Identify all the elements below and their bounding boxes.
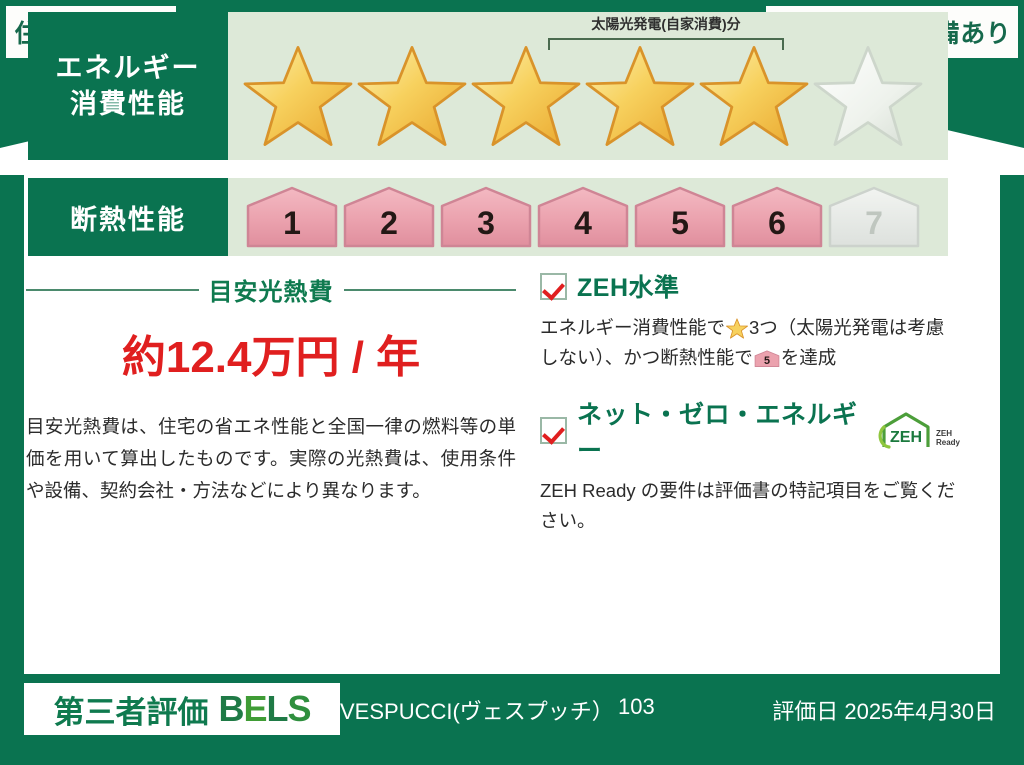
svg-text:5: 5: [764, 355, 770, 367]
insulation-levels-area: 1 2 3 4 5 6: [228, 178, 948, 256]
solar-bracket: [546, 36, 786, 52]
star-icon-filled-2: [356, 43, 468, 149]
property-name: VESPUCCI(ヴェスプッチ）: [340, 694, 614, 726]
star-icon-filled-5: [698, 43, 810, 149]
solar-annotation-label: 太陽光発電(自家消費)分: [546, 14, 786, 34]
evaluation-date: 評価日 2025年4月30日: [772, 694, 996, 726]
star-icon-filled-1: [242, 43, 354, 149]
zeh-standard-label: ZEH水準: [577, 268, 680, 304]
net-zero-label: ネット・ゼロ・エネルギー: [577, 395, 862, 467]
energy-performance-row: エネルギー 消費性能 太陽光発電(自家消費)分: [28, 12, 948, 160]
house-icon-inline-level5: 5: [754, 349, 780, 369]
svg-text:7: 7: [865, 205, 883, 241]
zeh-standard-claim-title: ZEH水準: [540, 268, 960, 304]
house-level-4: 4: [535, 184, 631, 252]
energy-cost-description: 目安光熱費は、住宅の省エネ性能と全国一律の燃料等の単価を用いて算出したものです。…: [26, 411, 516, 506]
energy-cost-heading-text: 目安光熱費: [209, 272, 334, 307]
heading-rule-left: [26, 289, 199, 291]
house-level-7: 7: [826, 184, 922, 252]
bels-jp-label: 第三者評価: [53, 687, 208, 732]
room-number: 103: [618, 694, 655, 720]
zeh-house-icon: ZEH: [878, 411, 934, 451]
insulation-label-text: 断熱性能: [70, 198, 186, 237]
zeh-standard-description: エネルギー消費性能で3つ（太陽光発電は考慮しない）、かつ断熱性能で5を達成: [540, 313, 960, 373]
energy-cost-heading: 目安光熱費: [26, 272, 516, 307]
energy-cost-value: 約12.4万円 / 年: [26, 321, 516, 385]
energy-label-line2: 消費性能: [70, 86, 186, 122]
energy-label-line1: エネルギー: [56, 50, 201, 86]
zeh-desc-part1: エネルギー消費性能で: [540, 317, 725, 338]
net-zero-description: ZEH Ready の要件は評価書の特記項目をご覧ください。: [540, 476, 960, 536]
insulation-level-scale: 1 2 3 4 5 6: [244, 182, 922, 252]
energy-cost-block: 目安光熱費 約12.4万円 / 年 目安光熱費は、住宅の省エネ性能と全国一律の燃…: [26, 272, 516, 506]
checkmark-icon-zeh-standard: [540, 273, 567, 300]
star-icon-filled-3: [470, 43, 582, 149]
svg-text:1: 1: [283, 205, 301, 241]
svg-text:3: 3: [477, 205, 495, 241]
bels-logo-box: 第三者評価 BELS: [24, 683, 340, 735]
zeh-ready-sublabel: ZEH Ready: [936, 430, 960, 451]
energy-performance-label: エネルギー 消費性能: [28, 12, 228, 160]
insulation-performance-label: 断熱性能: [28, 178, 228, 256]
svg-text:2: 2: [380, 205, 398, 241]
zeh-desc-part3: を達成: [781, 347, 837, 368]
heading-rule-right: [344, 289, 517, 291]
house-level-3: 3: [438, 184, 534, 252]
svg-text:ZEH: ZEH: [890, 429, 922, 446]
energy-stars-area: 太陽光発電(自家消費)分: [228, 12, 948, 160]
star-icon-filled-4: [584, 43, 696, 149]
net-zero-claim-title: ネット・ゼロ・エネルギー ZEH ZEH Ready: [540, 395, 960, 467]
house-level-5: 5: [632, 184, 728, 252]
star-icon-empty-6: [812, 43, 924, 149]
checkmark-icon-net-zero: [540, 417, 567, 444]
house-level-1: 1: [244, 184, 340, 252]
bels-en-label: BELS: [218, 688, 310, 730]
svg-text:6: 6: [768, 205, 786, 241]
solar-annotation: 太陽光発電(自家消費)分: [546, 14, 786, 52]
claims-spacer: [540, 373, 960, 395]
star-icon-inline: [726, 318, 748, 339]
footer-bar: 第三者評価 BELS VESPUCCI(ヴェスプッチ） 103 評価日 2025…: [0, 674, 1024, 765]
zeh-ready-logo: ZEH ZEH Ready: [878, 411, 960, 451]
insulation-performance-row: 断熱性能 1 2 3: [28, 178, 948, 256]
house-level-2: 2: [341, 184, 437, 252]
star-rating: [242, 40, 934, 152]
house-level-6: 6: [729, 184, 825, 252]
zeh-claims-block: ZEH水準 エネルギー消費性能で3つ（太陽光発電は考慮しない）、かつ断熱性能で5…: [540, 268, 960, 536]
svg-text:5: 5: [671, 205, 689, 241]
zeh-ready-line2: Ready: [936, 438, 960, 447]
svg-text:4: 4: [574, 205, 592, 241]
